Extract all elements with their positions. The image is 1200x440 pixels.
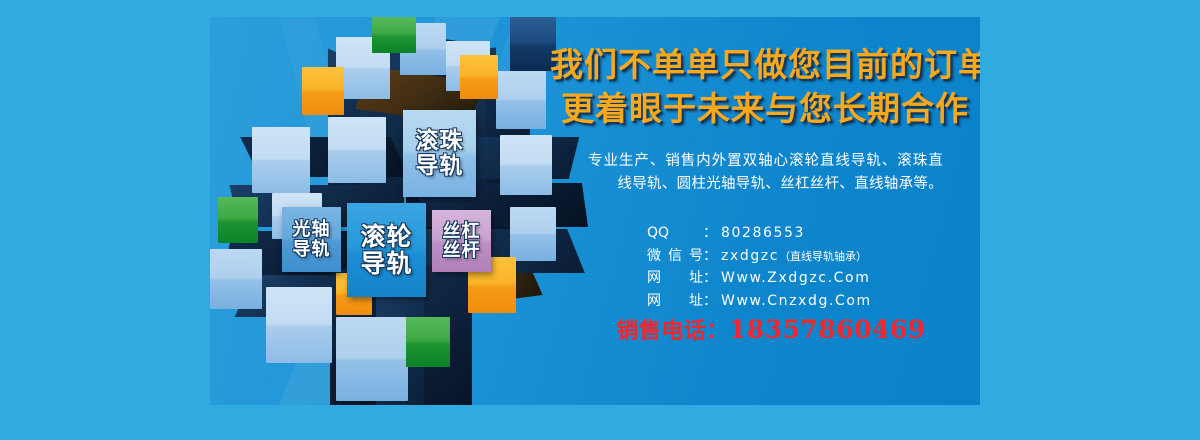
decorative-cube — [302, 67, 344, 115]
decorative-cube — [460, 55, 498, 99]
headline-line-2: 更着眼于未来与您长期合作 — [550, 87, 980, 131]
decorative-cube — [266, 287, 332, 363]
product-cube-line1: 滚珠 — [416, 129, 464, 154]
company-description: 专业生产、销售内外置双轴心滚轮直线导轨、滚珠直线导轨、圆柱光轴导轨、丝杠丝杆、直… — [588, 150, 943, 197]
contact-row-wechat: 微信号 ： zxdgzc （直线导轨轴承） — [647, 245, 872, 268]
product-cube-line2: 导轨 — [293, 240, 331, 259]
product-cube-line2: 丝杆 — [443, 241, 481, 260]
decorative-cube — [218, 197, 258, 243]
decorative-cube — [496, 71, 546, 129]
decorative-cube — [210, 249, 262, 309]
promo-banner: 滚珠 导轨 光轴 导轨 滚轮 导轨 丝杠 丝杆 我们不单单只做您目前的订单 更着… — [210, 17, 980, 405]
headline: 我们不单单只做您目前的订单 更着眼于未来与您长期合作 — [550, 43, 980, 131]
decorative-cube — [328, 117, 386, 183]
product-cube-gunlun-daogui[interactable]: 滚轮 导轨 — [347, 203, 426, 297]
decorative-cube — [406, 317, 450, 367]
contact-colon: ： — [703, 267, 717, 290]
contact-label: 网址 — [647, 290, 703, 313]
contact-note-wechat: （直线导轨轴承） — [779, 248, 867, 266]
contact-row-website-1: 网址 ： Www.Zxdgzc.Com — [647, 267, 872, 290]
contact-value-wechat[interactable]: zxdgzc — [721, 245, 779, 268]
product-cube-line2: 导轨 — [416, 154, 464, 179]
contact-label: QQ — [647, 222, 703, 245]
cube-cluster-illustration: 滚珠 导轨 光轴 导轨 滚轮 导轨 丝杠 丝杆 — [210, 17, 560, 405]
product-cube-line2: 导轨 — [360, 250, 412, 277]
contact-value-website-2[interactable]: Www.Cnzxdg.Com — [721, 290, 872, 313]
headline-line-1: 我们不单单只做您目前的订单 — [550, 43, 980, 87]
sales-phone[interactable]: 销售电话：18357860469 — [556, 313, 980, 345]
contact-row-website-2: 网址 ： Www.Cnzxdg.Com — [647, 290, 872, 313]
sales-phone-label: 销售电话： — [616, 319, 729, 344]
banner-content: 我们不单单只做您目前的订单 更着眼于未来与您长期合作 专业生产、销售内外置双轴心… — [550, 17, 980, 405]
product-cube-sigang-sigan[interactable]: 丝杠 丝杆 — [432, 210, 491, 272]
contact-label: 微信号 — [647, 245, 703, 268]
decorative-cube — [252, 127, 310, 193]
contact-info-list: QQ ： 80286553 微信号 ： zxdgzc （直线导轨轴承） 网址 ：… — [647, 222, 872, 313]
contact-colon: ： — [703, 290, 717, 313]
contact-value-qq[interactable]: 80286553 — [721, 222, 805, 245]
product-cube-gunzhu-daogui[interactable]: 滚珠 导轨 — [403, 110, 476, 197]
contact-colon: ： — [703, 245, 717, 268]
contact-value-website-1[interactable]: Www.Zxdgzc.Com — [721, 267, 870, 290]
contact-label: 网址 — [647, 267, 703, 290]
contact-colon: ： — [703, 222, 717, 245]
decorative-cube — [372, 17, 416, 53]
decorative-cube — [336, 317, 408, 401]
product-cube-line1: 丝杠 — [443, 222, 481, 241]
product-cube-line1: 光轴 — [293, 220, 331, 239]
sales-phone-number[interactable]: 18357860469 — [729, 315, 926, 344]
product-cube-line1: 滚轮 — [360, 223, 412, 250]
decorative-cube — [500, 135, 552, 195]
product-cube-guangzhou-daogui[interactable]: 光轴 导轨 — [282, 207, 341, 272]
contact-row-qq: QQ ： 80286553 — [647, 222, 872, 245]
